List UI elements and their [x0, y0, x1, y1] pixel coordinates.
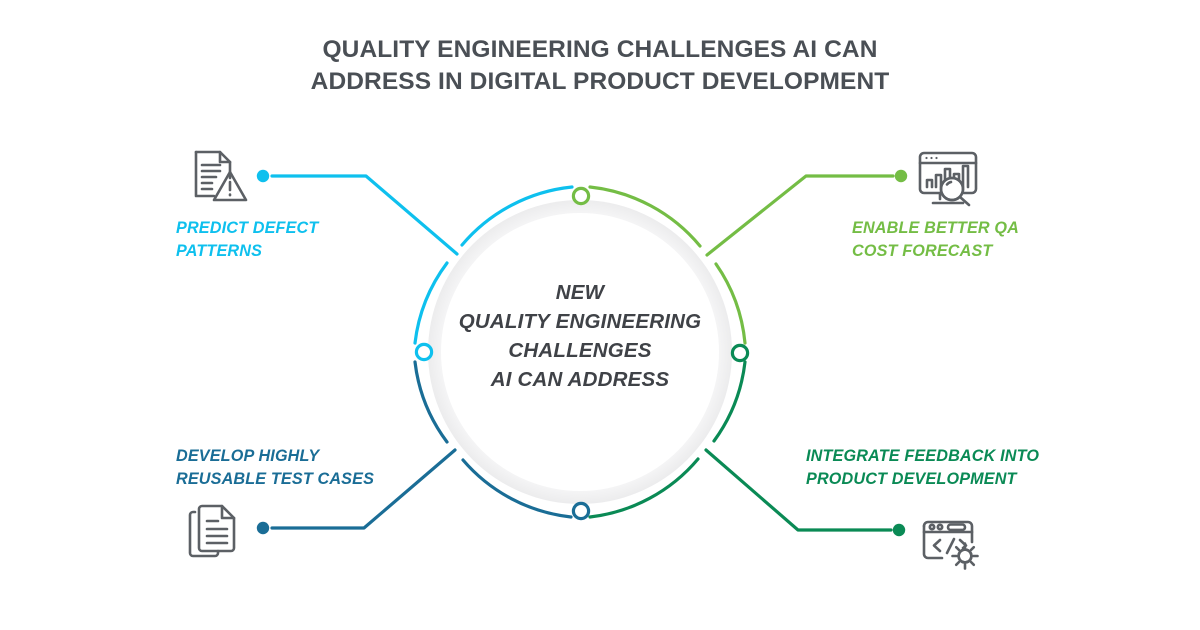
node-label-predict-defect-patterns: PREDICT DEFECT PATTERNS	[176, 217, 318, 263]
ring-node-left[interactable]	[416, 344, 431, 359]
monitor-chart-magnifier-icon	[916, 148, 980, 208]
node-label-enable-better-qa-cost-forecast: ENABLE BETTER QA COST FORECAST	[852, 217, 1019, 263]
hub-line-1: NEW	[435, 278, 725, 307]
connector-dot-bottom-right	[893, 524, 905, 536]
document-warning-icon	[188, 148, 252, 208]
node-label-tl-line-2: PATTERNS	[176, 240, 318, 263]
node-label-bl-line-1: DEVELOP HIGHLY	[176, 445, 374, 468]
ring-node-top[interactable]	[573, 188, 588, 203]
node-label-br-line-2: PRODUCT DEVELOPMENT	[806, 468, 1039, 491]
node-label-br-line-1: INTEGRATE FEEDBACK INTO	[806, 445, 1039, 468]
connector-dot-bottom-left	[257, 522, 269, 534]
hub-line-2: QUALITY ENGINEERING	[435, 307, 725, 336]
code-window-gear-icon	[920, 512, 984, 572]
node-label-bl-line-2: REUSABLE TEST CASES	[176, 468, 374, 491]
hub-line-4: AI CAN ADDRESS	[435, 365, 725, 394]
stacked-documents-icon	[186, 504, 250, 564]
hub-line-3: CHALLENGES	[435, 336, 725, 365]
hub-center-text: NEW QUALITY ENGINEERING CHALLENGES AI CA…	[435, 278, 725, 394]
node-label-develop-highly-reusable-test-cases: DEVELOP HIGHLY REUSABLE TEST CASES	[176, 445, 374, 491]
node-label-integrate-feedback-into-product-development: INTEGRATE FEEDBACK INTO PRODUCT DEVELOPM…	[806, 445, 1039, 491]
infographic-canvas: QUALITY ENGINEERING CHALLENGES AI CAN AD…	[0, 0, 1200, 630]
node-label-tr-line-2: COST FORECAST	[852, 240, 1019, 263]
node-label-tr-line-1: ENABLE BETTER QA	[852, 217, 1019, 240]
node-label-tl-line-1: PREDICT DEFECT	[176, 217, 318, 240]
connector-dot-top-right	[895, 170, 907, 182]
ring-node-right[interactable]	[732, 345, 747, 360]
ring-node-bottom[interactable]	[573, 503, 588, 518]
connector-dot-top-left	[257, 170, 269, 182]
